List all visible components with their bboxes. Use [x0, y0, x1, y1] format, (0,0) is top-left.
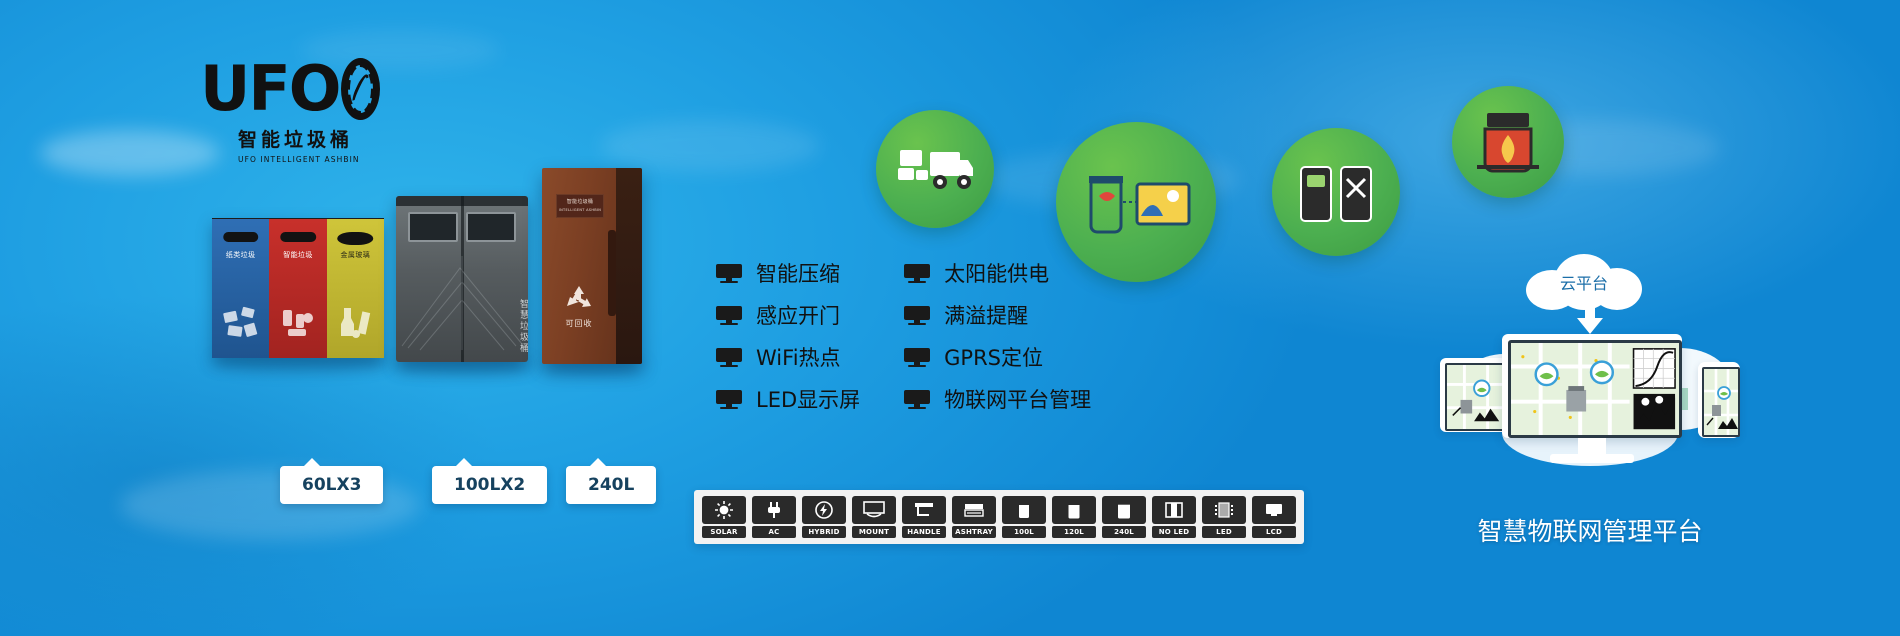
recycle-icon	[562, 282, 596, 316]
bin-display-panel: 智能垃圾桶 INTELLIGENT ASHBIN	[556, 194, 604, 218]
spec-label: ASHTRAY	[952, 526, 996, 538]
monitor-icon	[904, 306, 930, 325]
cloud-platform-label: 云平台	[1526, 254, 1642, 310]
monitor-icon	[904, 348, 930, 367]
bin-compartment-yellow: 金属玻璃	[327, 218, 384, 358]
spec-label: HANDLE	[902, 526, 946, 538]
feature-item: LED显示屏	[716, 384, 860, 414]
monitor-icon	[904, 390, 930, 409]
ashtray-icon	[952, 496, 996, 524]
bin-window-right	[466, 212, 516, 242]
oval-slot-icon	[338, 232, 374, 245]
spec-item-120l[interactable]: 120L	[1052, 496, 1096, 538]
feature-column-left: 智能压缩 感应开门 WiFi热点 LED显示屏	[716, 258, 860, 414]
arrow-head-icon	[1577, 318, 1603, 334]
spec-label: MOUNT	[852, 526, 896, 538]
product-metal-double-bin: 智慧垃圾桶	[396, 196, 528, 362]
feature-label: 智能压缩	[756, 258, 840, 288]
dual-bin-sensor-icon	[1293, 157, 1379, 227]
bin-slot	[608, 230, 616, 316]
cloud-decoration	[40, 130, 220, 176]
feature-list: 智能压缩 感应开门 WiFi热点 LED显示屏 太阳能供电 满溢提醒	[716, 258, 1091, 414]
collection-truck-icon	[896, 140, 974, 198]
bin-compartment-blue: 纸类垃圾	[212, 218, 269, 358]
feature-item: 太阳能供电	[904, 258, 1091, 288]
feature-item: WiFi热点	[716, 342, 860, 372]
logo-wordmark-row: UFO	[200, 56, 380, 122]
city-map	[1447, 365, 1505, 429]
compartment-label: 金属玻璃	[327, 250, 384, 260]
led-panel-icon	[1202, 496, 1246, 524]
monitor-icon	[904, 264, 930, 283]
rect-slot-icon	[280, 232, 316, 242]
platform-title: 智慧物联网管理平台	[1390, 512, 1790, 548]
hazard-waste-icon	[275, 302, 321, 342]
monitor-icon	[716, 348, 742, 367]
rect-slot-icon	[223, 232, 259, 242]
feature-label: GPRS定位	[944, 342, 1043, 372]
bin-large-icon	[1102, 496, 1146, 524]
monitor-screen	[1508, 340, 1682, 438]
paper-waste-icon	[218, 302, 264, 342]
feature-item: GPRS定位	[904, 342, 1091, 372]
capacity-tag-240l: 240L	[566, 466, 656, 504]
bin-medium-icon	[1052, 496, 1096, 524]
spec-label: 100L	[1002, 526, 1046, 538]
feature-label: WiFi热点	[756, 342, 841, 372]
sun-icon	[702, 496, 746, 524]
spec-item-mount[interactable]: MOUNT	[852, 496, 896, 538]
handle-icon	[902, 496, 946, 524]
logo-english-name: UFO INTELLIGENT ASHBIN	[238, 155, 380, 164]
spec-icon-strip: SOLAR AC HYBRID MOUNT HANDLE	[694, 490, 1304, 544]
product-three-compartment-bin: 纸类垃圾 智能垃圾	[212, 218, 384, 358]
city-map	[1704, 369, 1738, 435]
spec-item-led[interactable]: LED	[1202, 496, 1246, 538]
mount-bracket-icon	[852, 496, 896, 524]
spec-item-ashtray[interactable]: ASHTRAY	[952, 496, 996, 538]
spec-item-240l[interactable]: 240L	[1102, 496, 1146, 538]
solar-bin-icon	[1077, 156, 1195, 248]
feature-label: 物联网平台管理	[944, 384, 1091, 414]
lcd-screen-icon	[1252, 496, 1296, 524]
product-brown-recycling-bin: 智能垃圾桶 INTELLIGENT ASHBIN 可回收	[542, 168, 642, 364]
bin-small-icon	[1002, 496, 1046, 524]
spec-label: SOLAR	[702, 526, 746, 538]
desktop-monitor	[1502, 334, 1682, 438]
feature-label: 太阳能供电	[944, 258, 1049, 288]
spec-item-no-led[interactable]: NO LED	[1152, 496, 1196, 538]
feature-circle-fire-alarm-bin	[1452, 86, 1564, 198]
compartment-label: 纸类垃圾	[212, 250, 269, 260]
logo-wordmark: UFO	[200, 58, 339, 120]
feature-item: 满溢提醒	[904, 300, 1091, 330]
cloud-label-text: 云平台	[1526, 270, 1642, 294]
bin-window-left	[408, 212, 458, 242]
feature-label: LED显示屏	[756, 384, 860, 414]
tablet-device	[1440, 358, 1508, 432]
feature-item: 智能压缩	[716, 258, 860, 288]
bin-side-text: 智慧垃圾桶	[517, 299, 528, 354]
feature-circle-dual-bin-sensor	[1272, 128, 1400, 256]
cloud-decoration	[600, 120, 820, 172]
spec-label: LED	[1202, 526, 1246, 538]
spec-item-handle[interactable]: HANDLE	[902, 496, 946, 538]
spec-item-ac[interactable]: AC	[752, 496, 796, 538]
tablet-screen	[1445, 363, 1507, 431]
feature-column-right: 太阳能供电 满溢提醒 GPRS定位 物联网平台管理	[904, 258, 1091, 414]
glass-metal-waste-icon	[332, 302, 378, 342]
feature-item: 感应开门	[716, 300, 860, 330]
capacity-tag-100lx2: 100LX2	[432, 466, 547, 504]
spec-label: HYBRID	[802, 526, 846, 538]
spec-item-100l[interactable]: 100L	[1002, 496, 1046, 538]
spec-label: 120L	[1052, 526, 1096, 538]
feature-label: 满溢提醒	[944, 300, 1028, 330]
spec-label: 240L	[1102, 526, 1146, 538]
iot-platform-illustration: 云平台	[1440, 296, 1740, 506]
banner-stage: UFO 智能垃圾桶 UFO INTELLIGENT ASHBIN 纸类垃圾	[0, 0, 1900, 636]
bin-texture	[400, 248, 524, 352]
spec-label: LCD	[1252, 526, 1296, 538]
dashboard-view	[1511, 343, 1679, 435]
panel-text: 智能垃圾桶	[557, 198, 603, 205]
monitor-base	[1550, 454, 1634, 463]
monitor-icon	[716, 306, 742, 325]
feature-label: 感应开门	[756, 300, 840, 330]
feature-item: 物联网平台管理	[904, 384, 1091, 414]
spec-label: AC	[752, 526, 796, 538]
spec-item-solar[interactable]: SOLAR	[702, 496, 746, 538]
spec-item-hybrid[interactable]: HYBRID	[802, 496, 846, 538]
capacity-tag-60lx3: 60LX3	[280, 466, 383, 504]
brand-logo: UFO 智能垃圾桶 UFO INTELLIGENT ASHBIN	[200, 56, 380, 164]
feature-circle-smart-collection-truck	[876, 110, 994, 228]
panel-subtext: INTELLIGENT ASHBIN	[557, 208, 603, 212]
monitor-icon	[716, 390, 742, 409]
lightning-circle-icon	[802, 496, 846, 524]
blank-panel-icon	[1152, 496, 1196, 524]
monitor-icon	[716, 264, 742, 283]
fire-alarm-bin-icon	[1471, 107, 1545, 177]
recycle-label: 可回收	[556, 318, 602, 329]
compartment-label: 智能垃圾	[269, 250, 326, 260]
smartphone-device	[1698, 362, 1740, 438]
logo-chinese-name: 智能垃圾桶	[238, 125, 380, 152]
spec-item-lcd[interactable]: LCD	[1252, 496, 1296, 538]
plug-icon	[752, 496, 796, 524]
gear-ring-icon	[341, 58, 380, 120]
bin-compartment-red: 智能垃圾	[269, 218, 326, 358]
spec-label: NO LED	[1152, 526, 1196, 538]
phone-screen	[1702, 367, 1740, 437]
